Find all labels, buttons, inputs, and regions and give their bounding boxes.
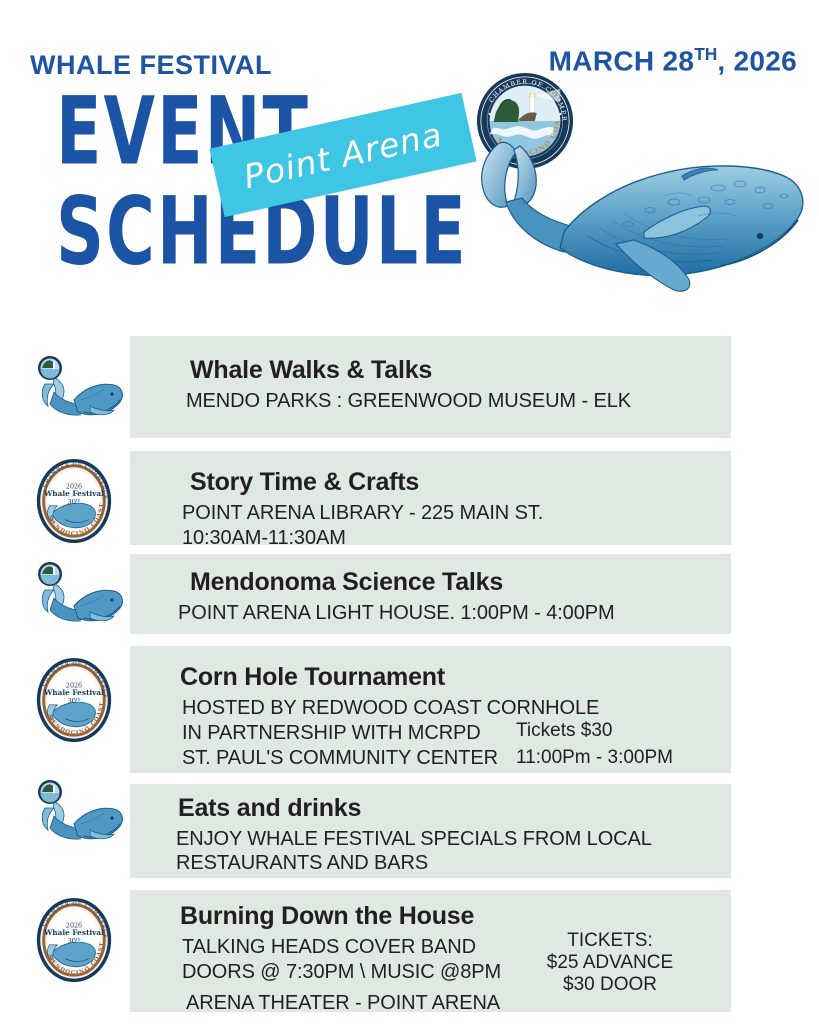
svg-text:30ᵗʰ: 30ᵗʰ	[67, 697, 80, 705]
row-content: Whale Walks & Talks MENDO PARKS : GREENW…	[130, 336, 731, 413]
humpback-whale-illustration	[468, 140, 816, 320]
whale-festival-badge-icon: 2026 Whale Festival 30ᵗʰ CHAMBER OF COMM…	[30, 894, 130, 992]
event-title: Burning Down the House	[130, 890, 731, 931]
event-ticket-line: Tickets $30	[516, 720, 612, 742]
event-detail-line: MENDO PARKS : GREENWOOD MUSEUM - ELK	[130, 385, 731, 413]
event-detail-line: RESTAURANTS AND BARS	[130, 851, 731, 875]
event-detail-line: HOSTED BY REDWOOD COAST CORNHOLE	[130, 692, 731, 720]
event-detail-line: IN PARTNERSHIP WITH MCRPD	[130, 720, 731, 745]
row-content: Corn Hole Tournament HOSTED BY REDWOOD C…	[130, 646, 731, 770]
whale-icon	[26, 354, 126, 425]
event-detail-line: ENJOY WHALE FESTIVAL SPECIALS FROM LOCAL	[130, 823, 731, 851]
event-date-ordinal: TH	[694, 44, 717, 64]
event-date-year: , 2026	[717, 45, 797, 76]
poster-header: WHALE FESTIVAL MARCH 28TH, 2026 EVENT SC…	[0, 0, 819, 330]
row-content: Burning Down the House TALKING HEADS COV…	[130, 890, 731, 1015]
event-date: MARCH 28TH, 2026	[549, 44, 797, 77]
svg-text:Whale Festival: Whale Festival	[43, 688, 104, 697]
event-ticket-line: $30 DOOR	[530, 974, 690, 996]
event-detail-line: 10:30AM-11:30AM	[130, 525, 731, 550]
whale-festival-badge-icon: 2026 Whale Festival 30ᵗʰ CHAMBER OF COMM…	[30, 455, 130, 553]
event-ticket-line: 11:00Pm - 3:00PM	[516, 747, 673, 769]
row-content: Mendonoma Science Talks POINT ARENA LIGH…	[130, 554, 731, 625]
event-ticket-line: $25 ADVANCE	[530, 952, 690, 974]
badge-name: Whale Festival	[43, 489, 104, 498]
row-content: Story Time & Crafts POINT ARENA LIBRARY …	[130, 451, 731, 550]
event-detail-line: POINT ARENA LIBRARY - 225 MAIN ST.	[130, 497, 731, 525]
event-title: Whale Walks & Talks	[130, 336, 731, 385]
whale-icon	[26, 778, 126, 849]
svg-text:30ᵗʰ: 30ᵗʰ	[67, 937, 80, 945]
badge-edition: 30ᵗʰ	[67, 498, 80, 506]
svg-text:Whale Festival: Whale Festival	[43, 928, 104, 937]
event-title: Mendonoma Science Talks	[130, 554, 731, 597]
event-detail-line: POINT ARENA LIGHT HOUSE. 1:00PM - 4:00PM	[130, 597, 731, 625]
whale-icon	[26, 560, 126, 631]
event-title: Eats and drinks	[130, 784, 731, 823]
event-title: Story Time & Crafts	[130, 451, 731, 497]
event-title: Corn Hole Tournament	[130, 646, 731, 692]
whale-festival-badge-icon: 2026 Whale Festival 30ᵗʰ CHAMBER OF COMM…	[30, 654, 130, 752]
row-content: Eats and drinks ENJOY WHALE FESTIVAL SPE…	[130, 784, 731, 875]
event-ticket-line: TICKETS:	[530, 930, 690, 952]
festival-kicker: WHALE FESTIVAL	[30, 50, 272, 81]
